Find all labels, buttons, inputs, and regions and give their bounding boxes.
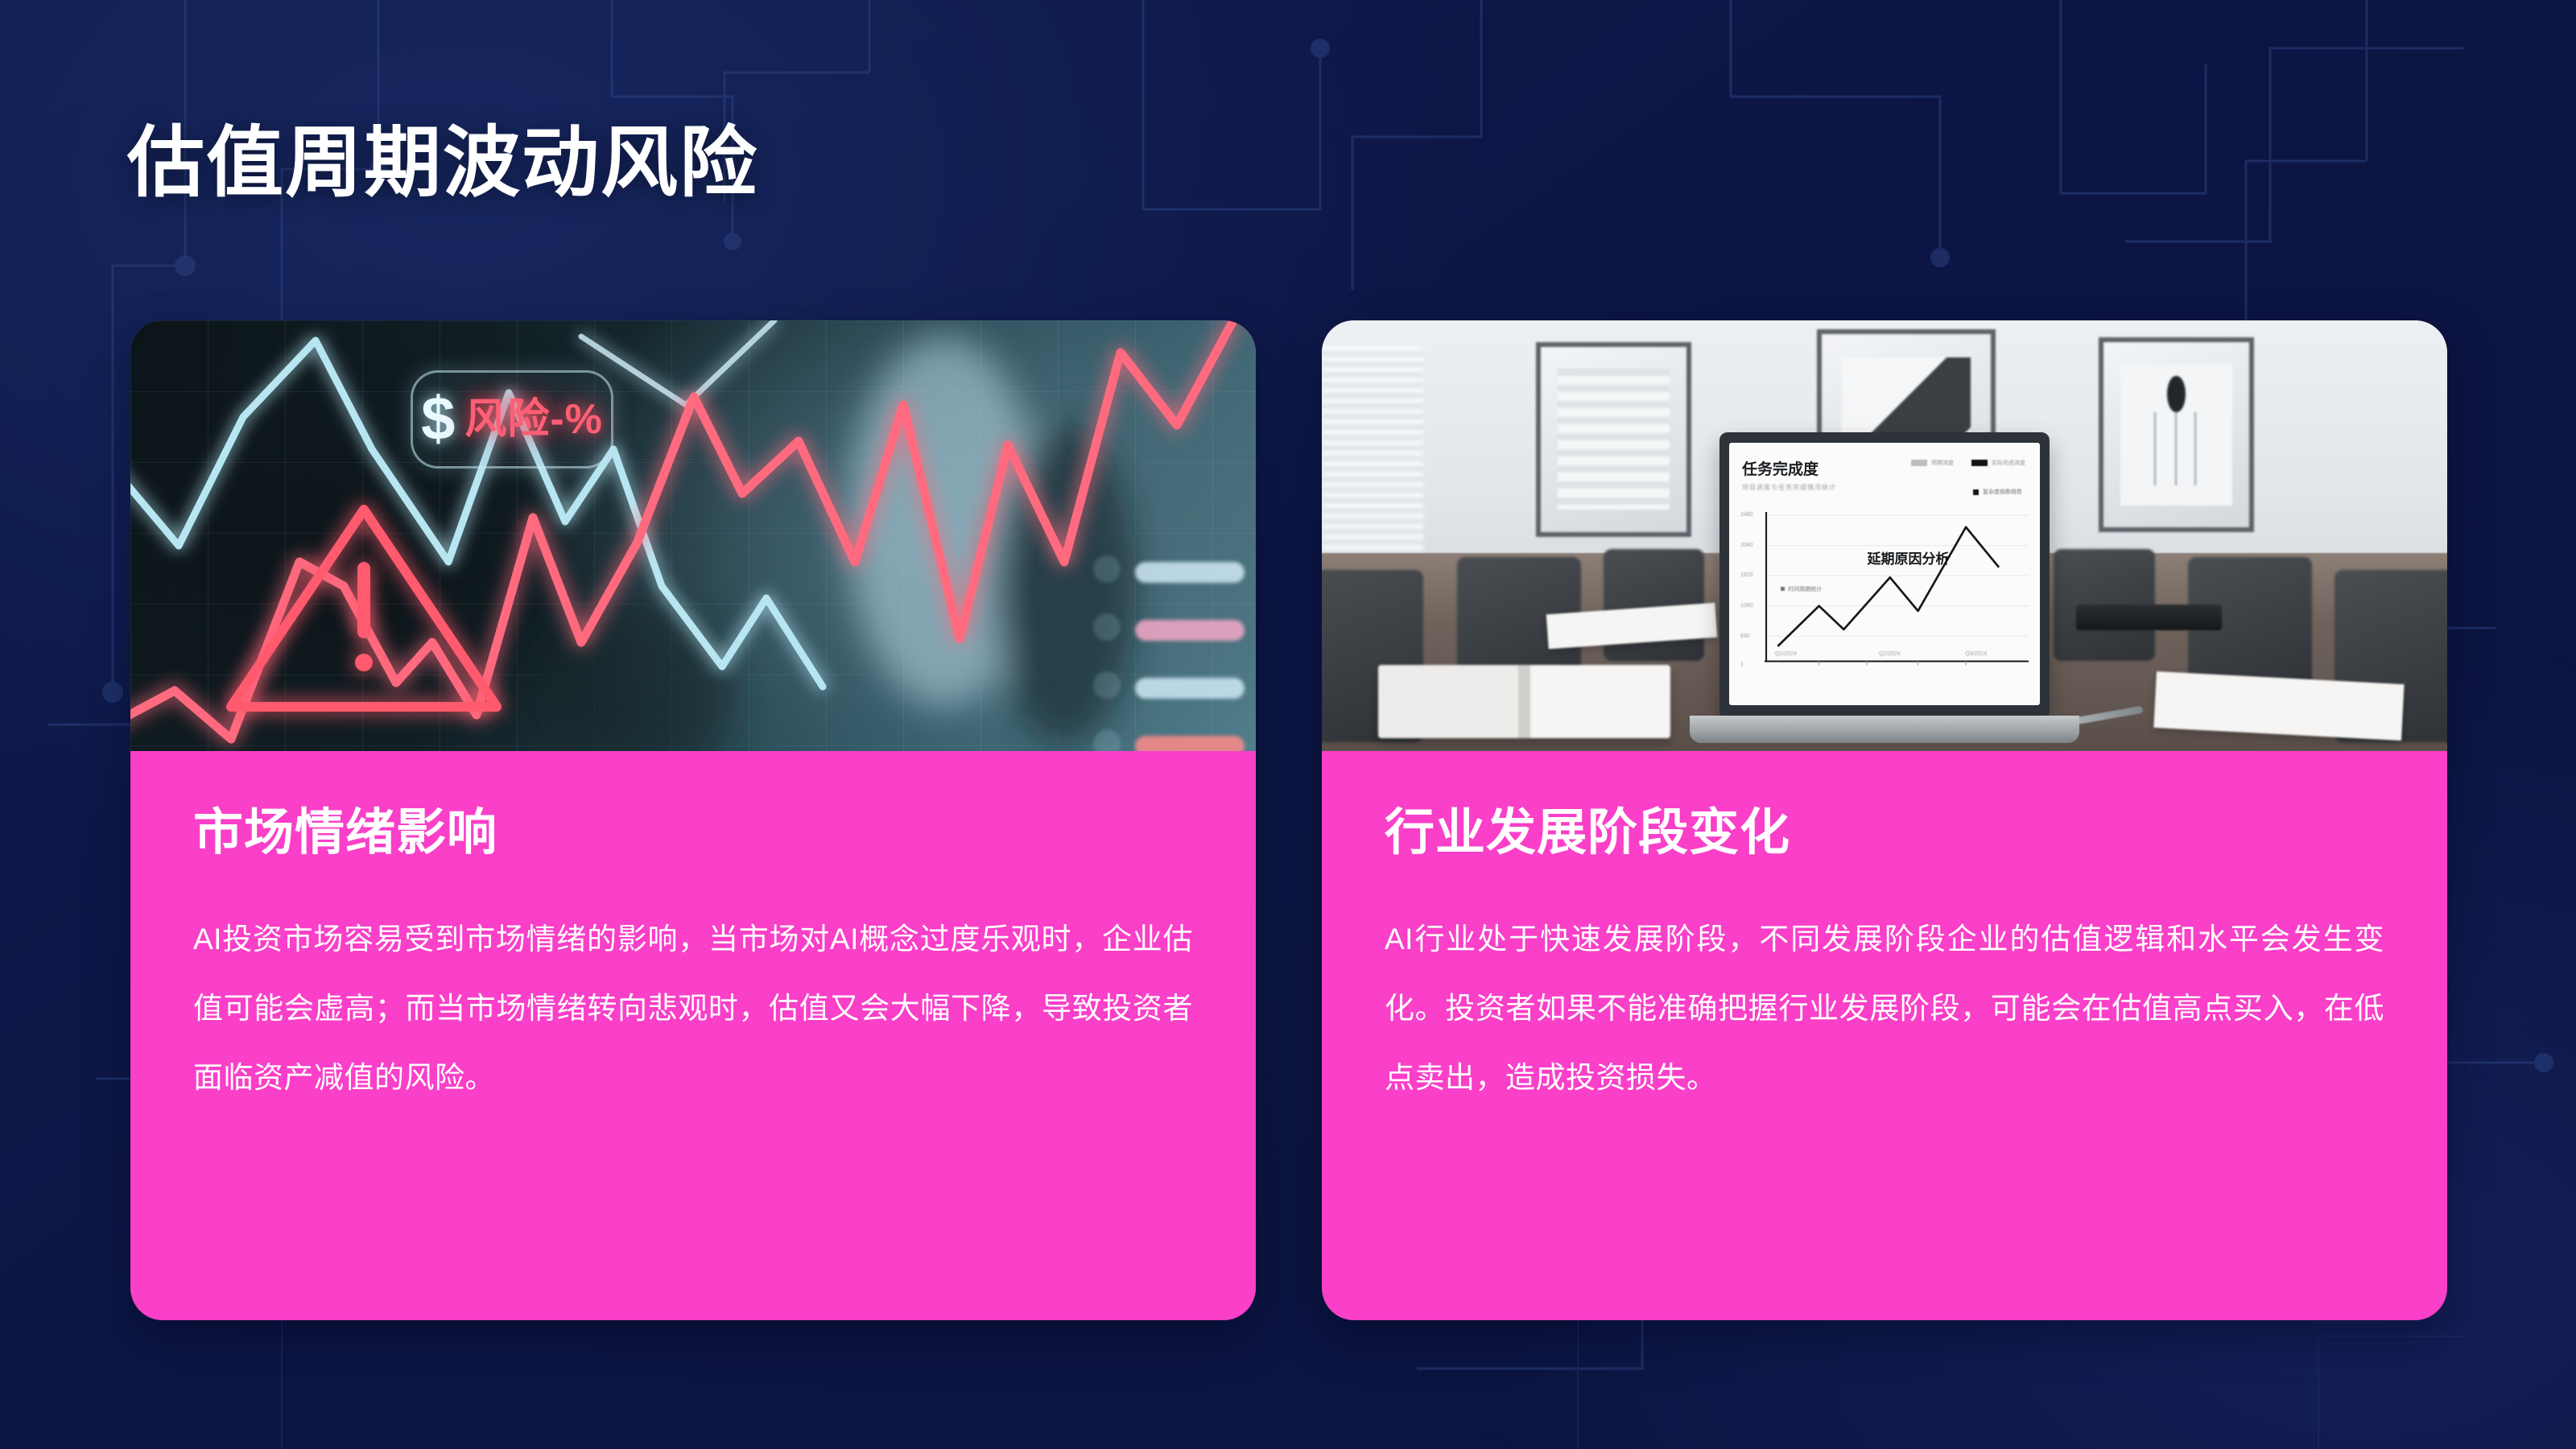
dollar-icon: $ xyxy=(421,389,455,450)
screen-chart-legend-secondary: 复杂度指数趋势 xyxy=(1973,488,2022,496)
y-tick-5: 1 xyxy=(1740,662,1744,667)
risk-badge-label: 风险-% xyxy=(464,398,603,440)
card-media-boardroom: 任务完成度 项目进度与任务完成情况统计 预期进度 实际完成进度 xyxy=(1322,320,2447,751)
card-body-market-sentiment: 市场情绪影响 AI投资市场容易受到市场情绪的影响，当市场对AI概念过度乐观时，企… xyxy=(130,751,1256,1113)
card-media-neon-chart: $ 风险-% xyxy=(130,320,1256,751)
laptop-base xyxy=(1690,716,2079,743)
wall-frame-1 xyxy=(1536,342,1692,537)
y-tick-1: 2040 xyxy=(1740,543,1753,548)
y-tick-4: 640 xyxy=(1740,634,1750,639)
legend-item-expected: 预期进度 xyxy=(1911,459,1954,467)
card-industry-stage[interactable]: 任务完成度 项目进度与任务完成情况统计 预期进度 实际完成进度 xyxy=(1322,320,2447,1320)
inline-label-text: 时间周期统计 xyxy=(1788,587,1822,592)
screen-chart-annotation: 延期原因分析 xyxy=(1868,547,1950,568)
risk-badge: $ 风险-% xyxy=(411,370,613,469)
page-title: 估值周期波动风险 xyxy=(127,119,758,208)
card-body-industry-stage: 行业发展阶段变化 AI行业处于快速发展阶段，不同发展阶段企业的估值逻辑和水平会发… xyxy=(1322,751,2447,1113)
laptop: 任务完成度 项目进度与任务完成情况统计 预期进度 实际完成进度 xyxy=(1719,432,2050,743)
screen-chart-legend: 预期进度 实际完成进度 xyxy=(1911,459,2025,467)
legend-label-complexity: 复杂度指数趋势 xyxy=(1983,488,2022,496)
open-book xyxy=(1378,665,1670,738)
x-tick-1: Q2/2024 xyxy=(1879,651,1901,657)
card-text-market-sentiment: AI投资市场容易受到市场情绪的影响，当市场对AI概念过度乐观时，企业估值可能会虚… xyxy=(193,905,1193,1113)
laptop-screen: 任务完成度 项目进度与任务完成情况统计 预期进度 实际完成进度 xyxy=(1729,443,2040,705)
legend-label-expected: 预期进度 xyxy=(1931,459,1954,467)
card-text-industry-stage: AI行业处于快速发展阶段，不同发展阶段企业的估值逻辑和水平会发生变化。投资者如果… xyxy=(1385,905,2384,1113)
laptop-lid: 任务完成度 项目进度与任务完成情况统计 预期进度 实际完成进度 xyxy=(1719,432,2050,716)
x-tick-2: Q3/2024 xyxy=(1965,651,1987,657)
legend-swatch-actual xyxy=(1971,460,1988,466)
notebook-right xyxy=(2076,605,2223,630)
legend-item-actual: 实际完成进度 xyxy=(1971,459,2025,467)
card-title-industry-stage: 行业发展阶段变化 xyxy=(1385,804,2384,861)
boardroom-backdrop: 任务完成度 项目进度与任务完成情况统计 预期进度 实际完成进度 xyxy=(1322,320,2447,751)
legend-label-actual: 实际完成进度 xyxy=(1992,459,2025,467)
x-tick-0: Q1/2024 xyxy=(1775,651,1797,657)
room-window-blinds xyxy=(1322,346,1423,588)
wall-frame-3 xyxy=(2099,337,2255,532)
screen-chart-inline-label: 时间周期统计 xyxy=(1781,585,1822,593)
screen-chart-plot: 2480 2040 1620 1080 640 1 xyxy=(1740,512,2029,671)
legend-swatch-expected xyxy=(1911,460,1927,466)
card-market-sentiment[interactable]: $ 风险-% 市场情绪影响 AI投资市场容易受到市场情绪的影响，当市场对AI概念… xyxy=(130,320,1256,1320)
y-tick-0: 2480 xyxy=(1740,512,1753,518)
blurred-ui-bars xyxy=(1135,562,1245,751)
legend-swatch-complexity xyxy=(1973,489,1979,495)
slide-root: 估值周期波动风险 xyxy=(0,0,2576,1449)
neon-chart-lines xyxy=(130,320,1256,751)
y-tick-2: 1620 xyxy=(1740,572,1753,578)
y-tick-3: 1080 xyxy=(1740,603,1753,609)
blurred-ui-dots xyxy=(1093,555,1121,751)
card-title-market-sentiment: 市场情绪影响 xyxy=(193,804,1193,861)
